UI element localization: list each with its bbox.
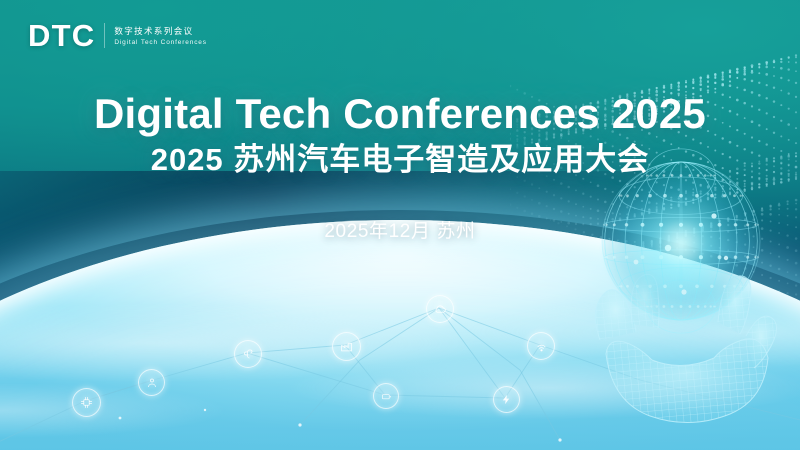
logo-mark: DTC [28,20,95,51]
cloud-data-icon [434,303,447,316]
conference-banner: DTC 数字技术系列会议 Digital Tech Conferences Di… [0,0,800,450]
node-bolt [493,386,520,413]
node-ai-brain [234,340,262,368]
lightning-bolt-icon [501,394,512,405]
wireless-signal-icon [535,340,548,353]
battery-icon [381,391,392,402]
node-chip [72,388,101,417]
headline-block: Digital Tech Conferences 2025 2025 苏州汽车电… [0,92,800,243]
logo-tagline-group: 数字技术系列会议 Digital Tech Conferences [114,25,207,45]
date-location: 2025年12月 苏州 [0,216,800,243]
page-title-en: Digital Tech Conferences 2025 [0,92,800,136]
page-title-cn: 2025 苏州汽车电子智造及应用大会 [0,142,800,178]
logo-tagline-en: Digital Tech Conferences [114,39,207,46]
logo-tagline-cn: 数字技术系列会议 [114,27,207,36]
brand-logo[interactable]: DTC 数字技术系列会议 Digital Tech Conferences [28,20,207,51]
node-factory [332,332,361,361]
people-icon [146,377,158,389]
logo-divider [104,23,105,48]
node-battery [373,383,399,409]
node-people [138,369,165,396]
node-signal [527,332,555,360]
ai-brain-icon [242,348,254,360]
microchip-icon [80,396,93,409]
factory-icon [340,340,353,353]
node-cloud [426,295,454,323]
